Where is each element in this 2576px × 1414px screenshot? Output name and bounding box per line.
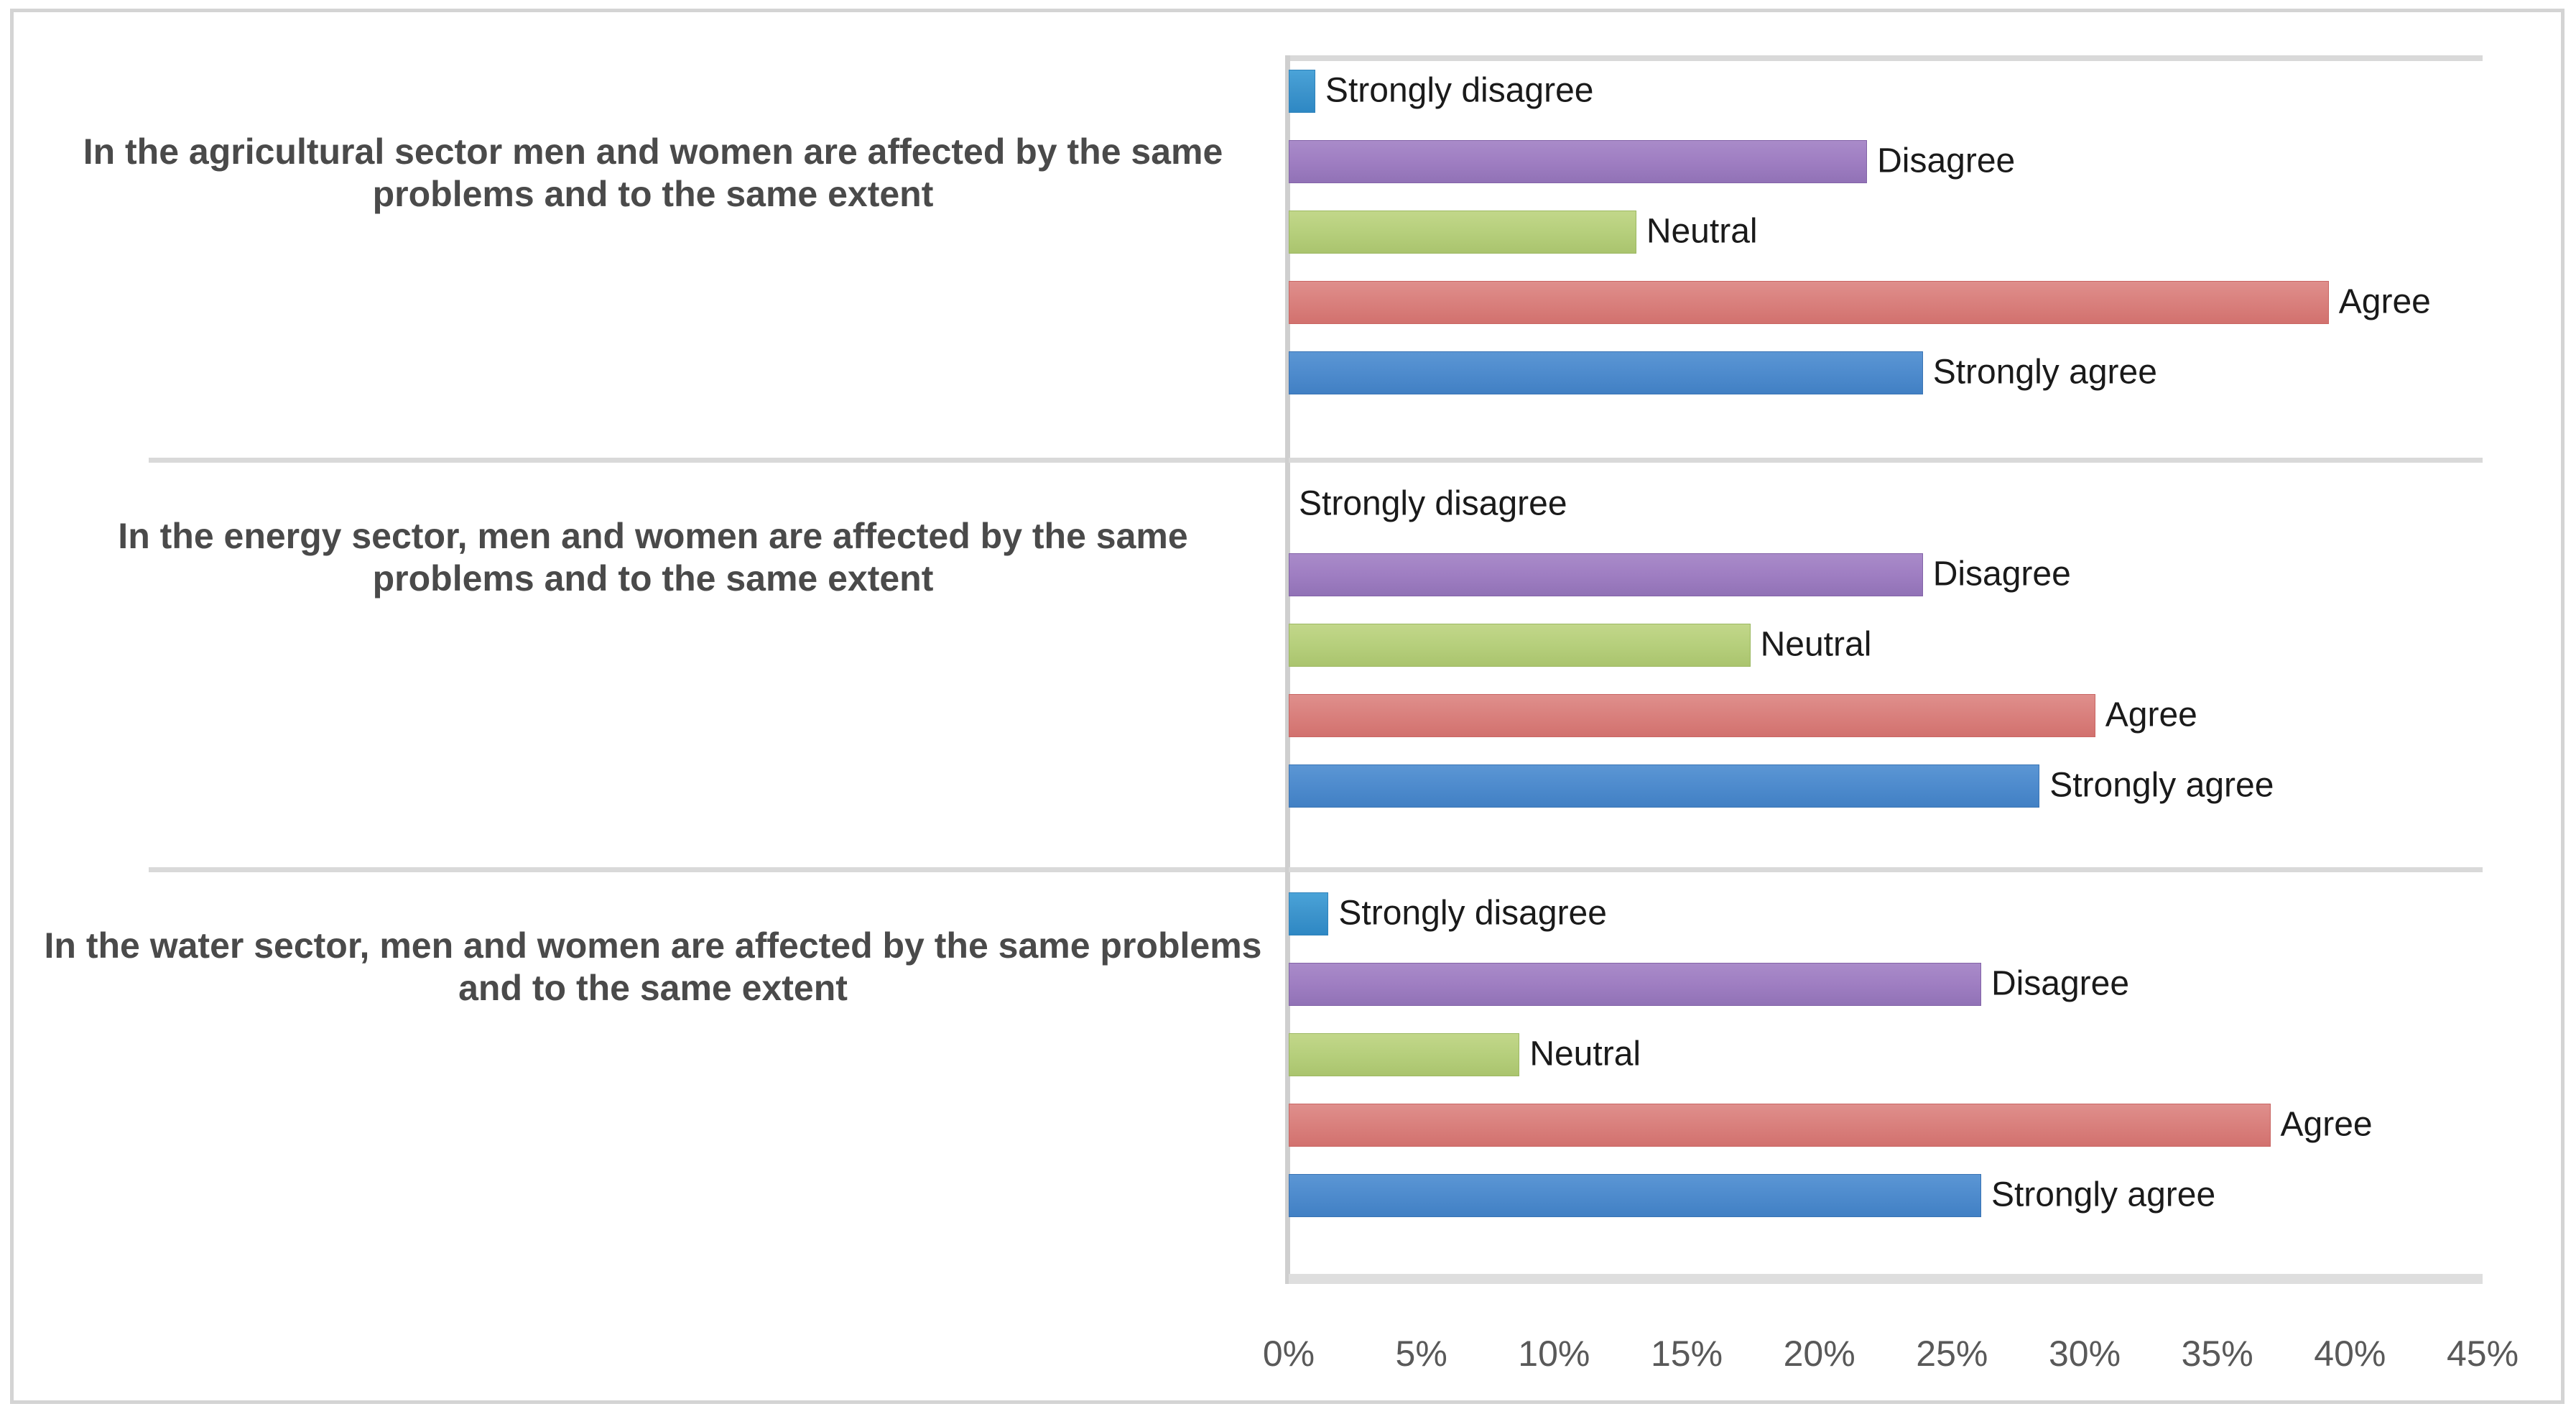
bar-label-neutral: Neutral <box>1519 1034 1641 1073</box>
x-tick-label: 45% <box>2447 1333 2519 1374</box>
bar-row: Strongly disagree <box>1289 892 2483 935</box>
bar-strongly-agree[interactable] <box>1289 351 1923 394</box>
group-divider <box>1289 458 2483 463</box>
bar-row: Agree <box>1289 1104 2483 1147</box>
x-tick-label: 10% <box>1518 1333 1590 1374</box>
category-label-water: In the water sector, men and women are a… <box>42 925 1264 1009</box>
chart-page: In the agricultural sector men and women… <box>0 0 2576 1414</box>
bar-label-strongly-agree: Strongly agree <box>1923 352 2157 392</box>
bar-label-agree: Agree <box>2329 282 2431 321</box>
bar-group: Strongly disagreeDisagreeNeutralAgreeStr… <box>1289 70 2483 443</box>
bar-row: Neutral <box>1289 1033 2483 1076</box>
bar-label-strongly-agree: Strongly agree <box>1981 1175 2215 1214</box>
bar-strongly-disagree[interactable] <box>1289 70 1315 113</box>
x-tick-label: 5% <box>1396 1333 1447 1374</box>
bar-strongly-agree[interactable] <box>1289 1174 1981 1217</box>
bar-row: Disagree <box>1289 140 2483 183</box>
bar-agree[interactable] <box>1289 281 2329 324</box>
bar-disagree[interactable] <box>1289 553 1923 596</box>
category-divider <box>149 867 1312 872</box>
bar-label-agree: Agree <box>2271 1104 2373 1144</box>
x-tick-label: 35% <box>2182 1333 2253 1374</box>
chart-plot-region: In the agricultural sector men and women… <box>14 12 2561 1400</box>
bar-row: Strongly agree <box>1289 764 2483 808</box>
bar-disagree[interactable] <box>1289 963 1981 1006</box>
bar-row: Strongly disagree <box>1289 483 2483 526</box>
category-label-energy: In the energy sector, men and women are … <box>42 515 1264 600</box>
bar-label-disagree: Disagree <box>1923 554 2071 593</box>
bar-row: Agree <box>1289 694 2483 737</box>
bar-label-strongly-disagree: Strongly disagree <box>1315 70 1594 110</box>
bar-row: Strongly agree <box>1289 1174 2483 1217</box>
bar-row: Neutral <box>1289 211 2483 254</box>
bar-group: Strongly disagreeDisagreeNeutralAgreeStr… <box>1289 483 2483 856</box>
group-divider <box>1289 867 2483 872</box>
bar-label-neutral: Neutral <box>1751 624 1872 664</box>
bar-agree[interactable] <box>1289 694 2095 737</box>
bar-row: Disagree <box>1289 553 2483 596</box>
bar-label-agree: Agree <box>2095 695 2197 734</box>
bar-neutral[interactable] <box>1289 211 1636 254</box>
category-axis-labels: In the agricultural sector men and women… <box>42 55 1264 1284</box>
x-tick-label: 0% <box>1263 1333 1315 1374</box>
bar-label-disagree: Disagree <box>1867 141 2015 180</box>
category-divider <box>149 458 1312 463</box>
bar-row: Strongly agree <box>1289 351 2483 394</box>
bar-neutral[interactable] <box>1289 624 1751 667</box>
x-tick-label: 40% <box>2314 1333 2386 1374</box>
bar-row: Agree <box>1289 281 2483 324</box>
category-label-agricultural: In the agricultural sector men and women… <box>42 131 1264 216</box>
bar-label-neutral: Neutral <box>1636 211 1758 251</box>
bar-group: Strongly disagreeDisagreeNeutralAgreeStr… <box>1289 892 2483 1266</box>
x-tick-label: 25% <box>1916 1333 1988 1374</box>
value-axis-ticks: 0%5%10%15%20%25%30%35%40%45% <box>1289 1333 2483 1383</box>
plot-top-border <box>1289 55 2483 61</box>
bars-plot-area: Strongly disagreeDisagreeNeutralAgreeStr… <box>1289 55 2483 1284</box>
bar-label-strongly-agree: Strongly agree <box>2039 765 2274 805</box>
bar-strongly-disagree[interactable] <box>1289 892 1328 935</box>
plot-bottom-border <box>1289 1274 2483 1284</box>
bar-label-disagree: Disagree <box>1981 964 2129 1003</box>
bar-label-strongly-disagree: Strongly disagree <box>1328 893 1607 933</box>
bar-neutral[interactable] <box>1289 1033 1519 1076</box>
bar-disagree[interactable] <box>1289 140 1867 183</box>
bar-agree[interactable] <box>1289 1104 2271 1147</box>
bar-strongly-agree[interactable] <box>1289 764 2039 808</box>
bar-row: Neutral <box>1289 624 2483 667</box>
x-tick-label: 15% <box>1651 1333 1723 1374</box>
x-tick-label: 30% <box>2049 1333 2121 1374</box>
bar-label-strongly-disagree: Strongly disagree <box>1289 484 1567 523</box>
x-tick-label: 20% <box>1784 1333 1855 1374</box>
chart-border: In the agricultural sector men and women… <box>10 9 2565 1404</box>
bar-row: Disagree <box>1289 963 2483 1006</box>
bar-row: Strongly disagree <box>1289 70 2483 113</box>
